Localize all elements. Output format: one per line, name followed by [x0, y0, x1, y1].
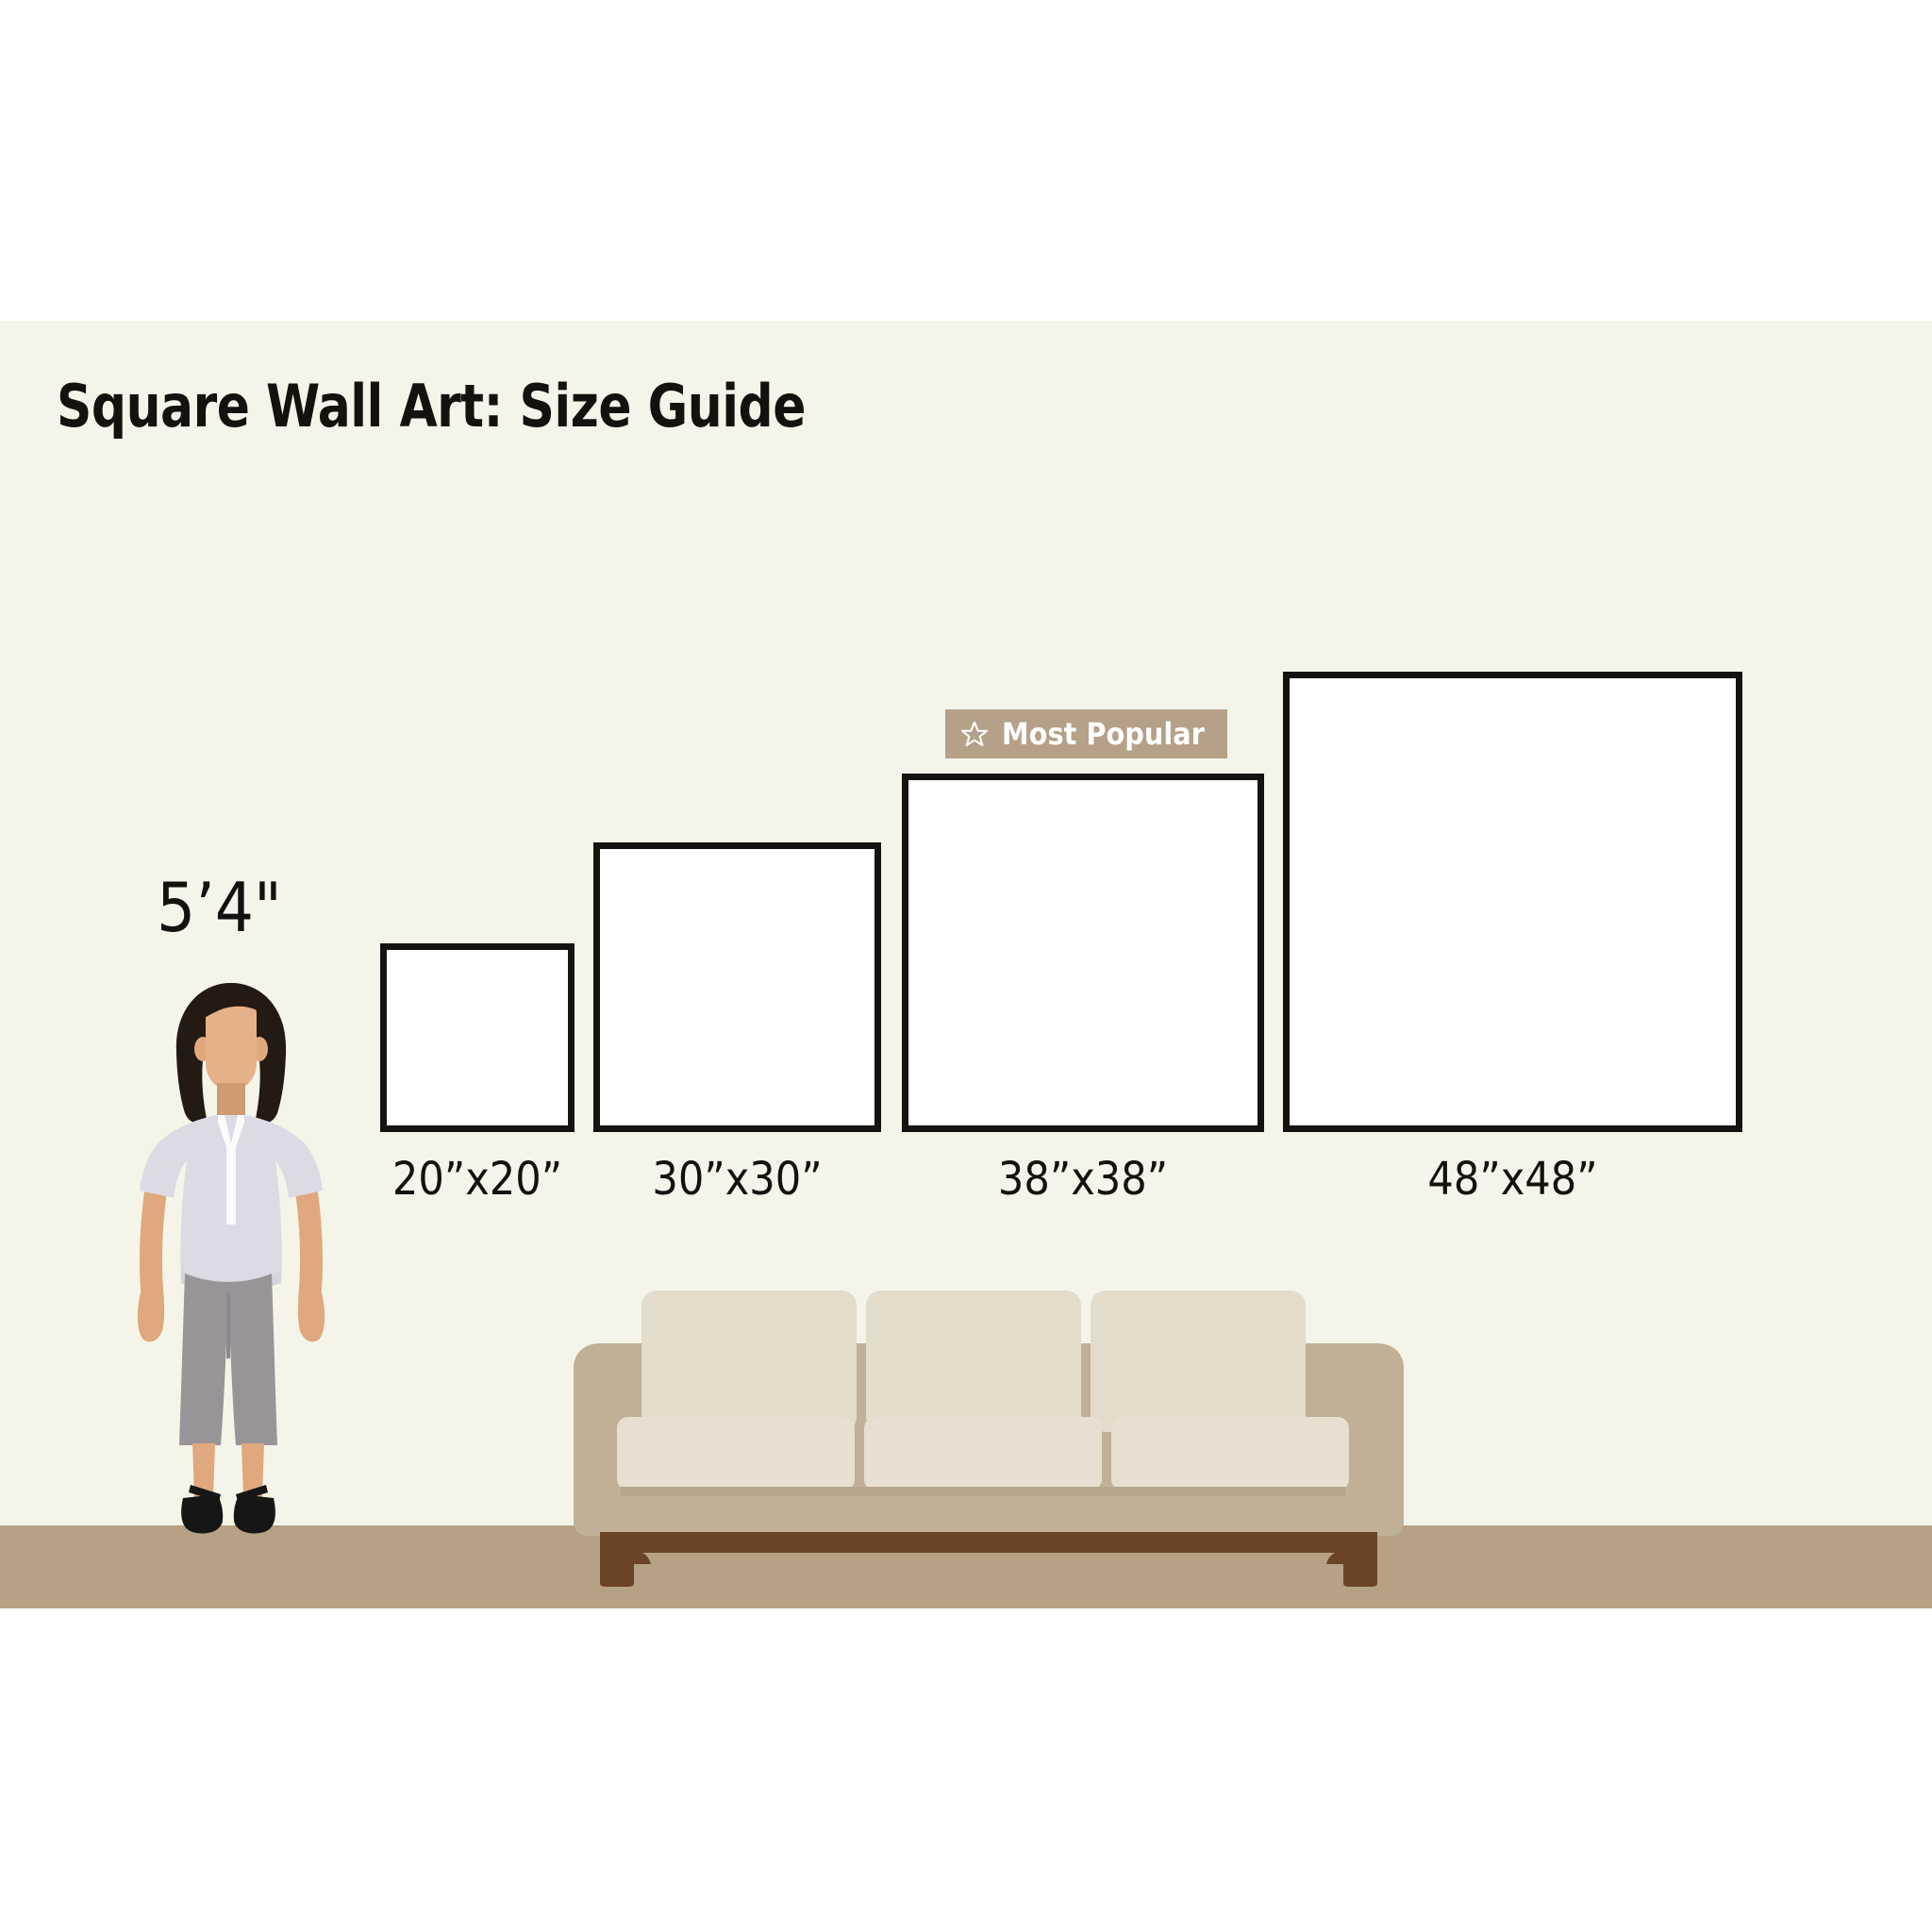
frame-label-30x30: 30”x30” — [593, 1153, 881, 1206]
frame-38x38[interactable] — [902, 774, 1264, 1132]
sofa-apron-shape — [619, 1496, 1358, 1538]
frame-label-38x38: 38”x38” — [902, 1153, 1264, 1206]
star-icon — [960, 720, 989, 748]
sofa-seat-cushion-left — [617, 1417, 855, 1491]
sofa-seat-cushion-right — [1111, 1417, 1349, 1491]
sofa-leg-left — [600, 1532, 634, 1587]
frame-label-20x20: 20”x20” — [380, 1153, 575, 1206]
sofa-back-cushion-right — [1091, 1291, 1306, 1432]
page-title: Square Wall Art: Size Guide — [57, 372, 806, 441]
sofa-back-cushion-center — [866, 1291, 1081, 1432]
reference-person-figure — [123, 981, 340, 1566]
sofa-figure — [564, 1275, 1413, 1587]
sofa-leg-rail — [600, 1532, 1377, 1553]
most-popular-badge[interactable]: Most Popular — [945, 709, 1227, 758]
sofa-leg-right-flare — [1326, 1551, 1343, 1564]
sofa-leg-left-flare — [634, 1551, 651, 1564]
size-guide-scene: Square Wall Art: Size Guide 5’4" — [0, 0, 1932, 1932]
hand-right-shape — [298, 1292, 325, 1341]
person-height-label: 5’4" — [157, 868, 282, 947]
sofa-back-cushion-left — [641, 1291, 857, 1432]
hand-left-shape — [138, 1292, 164, 1341]
frame-30x30[interactable] — [593, 842, 881, 1132]
frame-20x20[interactable] — [380, 943, 575, 1132]
most-popular-badge-label: Most Popular — [1002, 716, 1205, 752]
sofa-seat-cushion-center — [864, 1417, 1102, 1491]
frame-48x48[interactable] — [1283, 672, 1742, 1132]
frame-label-48x48: 48”x48” — [1283, 1153, 1742, 1206]
pants-seam — [226, 1292, 230, 1358]
neck-shape — [217, 1083, 245, 1119]
sofa-seat-shadow — [621, 1487, 1345, 1496]
sofa-leg-right — [1343, 1532, 1377, 1587]
